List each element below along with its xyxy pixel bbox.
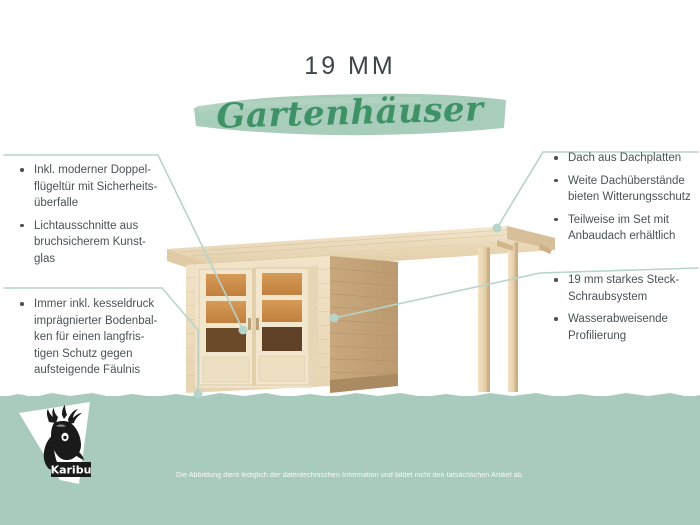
bullet-line: Dach aus Dachplatten (568, 150, 700, 167)
callout-left-bottom-list: Immer inkl. kesseldruck imprägnierter Bo… (18, 296, 168, 379)
bullet-line: Profilierung (568, 328, 700, 345)
page-title-script: Gartenhäuser (189, 82, 510, 147)
callout-left-bottom: Immer inkl. kesseldruck imprägnierter Bo… (18, 296, 168, 385)
list-item: Inkl. moderner Doppel- flügeltür mit Sic… (18, 162, 168, 212)
bullet-line: Weite Dachüberstände (568, 173, 700, 190)
bullet-line: Schraubsystem (568, 289, 700, 306)
list-item: Lichtausschnitte aus bruchsicherem Kunst… (18, 218, 168, 268)
deer-head-pennant-icon: Karibu (16, 402, 108, 486)
bullet-line: aufsteigende Fäulnis (34, 362, 168, 379)
bullet-line: Wasserabweisende (568, 311, 700, 328)
bullet-line: flügeltür mit Sicherheits- (34, 179, 168, 196)
list-item: Immer inkl. kesseldruck imprägnierter Bo… (18, 296, 168, 379)
bullet-line: überfalle (34, 195, 168, 212)
page-title-thickness: 19 MM (0, 52, 700, 81)
bullet-line: bruchsicherem Kunst- (34, 234, 168, 251)
bullet-line: Lichtausschnitte aus (34, 218, 168, 235)
list-item: Weite Dachüberstände bieten Witterungssc… (552, 173, 700, 206)
callout-right-bottom-list: 19 mm starkes Steck- Schraubsystem Wasse… (552, 272, 700, 344)
bullet-line: tigen Schutz gegen (34, 346, 168, 363)
infographic-canvas: 19 MM Gartenhäuser Inkl. (0, 0, 700, 525)
bullet-line: bieten Witterungsschutz (568, 189, 700, 206)
list-item: Wasserabweisende Profilierung (552, 311, 700, 344)
bullet-line: Immer inkl. kesseldruck (34, 296, 168, 313)
script-title-group: Gartenhäuser (190, 86, 510, 142)
bullet-line: Anbaudach erhältlich (568, 228, 700, 245)
bullet-line: imprägnierter Bodenbal- (34, 313, 168, 330)
list-item: 19 mm starkes Steck- Schraubsystem (552, 272, 700, 305)
callout-right-bottom: 19 mm starkes Steck- Schraubsystem Wasse… (552, 272, 700, 350)
callout-right-top-list: Dach aus Dachplatten Weite Dachüberständ… (552, 150, 700, 245)
list-item: Dach aus Dachplatten (552, 150, 700, 167)
karibu-logo: Karibu (16, 402, 108, 486)
bullet-line: Inkl. moderner Doppel- (34, 162, 168, 179)
bullet-line: 19 mm starkes Steck- (568, 272, 700, 289)
callout-right-top: Dach aus Dachplatten Weite Dachüberständ… (552, 150, 700, 251)
logo-wordmark: Karibu (51, 464, 92, 477)
callout-left-top: Inkl. moderner Doppel- flügeltür mit Sic… (18, 162, 168, 273)
list-item: Teilweise im Set mit Anbaudach erhältlic… (552, 212, 700, 245)
callout-left-top-list: Inkl. moderner Doppel- flügeltür mit Sic… (18, 162, 168, 267)
bullet-line: ken für einen langfris- (34, 329, 168, 346)
bullet-line: glas (34, 251, 168, 268)
bullet-line: Teilweise im Set mit (568, 212, 700, 229)
